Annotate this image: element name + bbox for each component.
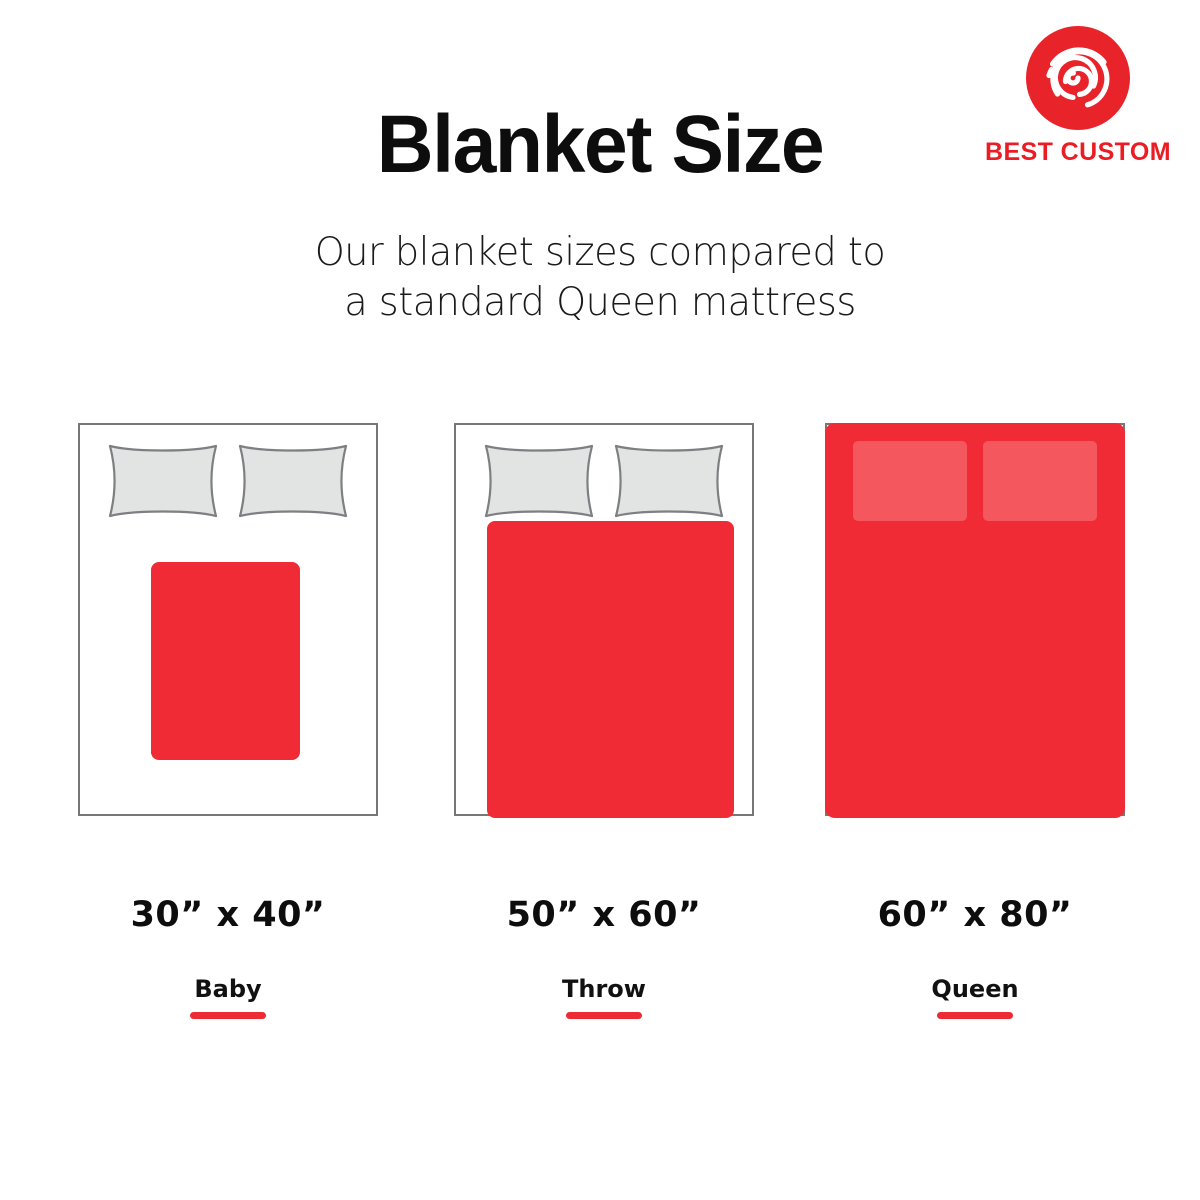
- pillow-icon: [236, 441, 350, 521]
- size-dimensions: 30” x 40”: [78, 898, 378, 933]
- underline-rule: [937, 1012, 1013, 1019]
- subtitle-line-1: Our blanket sizes compared to: [12, 228, 1188, 278]
- pillow-icon: [482, 441, 596, 521]
- size-name: Queen: [825, 977, 1125, 1001]
- size-dimensions: 60” x 80”: [825, 898, 1125, 933]
- size-label-queen: 60” x 80” Queen: [825, 898, 1125, 1019]
- size-label-throw: 50” x 60” Throw: [454, 898, 754, 1019]
- page-title: Blanket Size: [24, 104, 1176, 186]
- blanket-shape-throw: [487, 521, 734, 818]
- pillow-icon: [853, 441, 967, 521]
- pillow-icon: [983, 441, 1097, 521]
- blanket-shape-baby: [151, 562, 300, 760]
- blanket-shape-queen: [825, 423, 1125, 818]
- size-name: Throw: [454, 977, 754, 1001]
- pillow-icon: [612, 441, 726, 521]
- bed-diagram-throw: [454, 423, 754, 816]
- bed-diagram-group: [0, 423, 1200, 816]
- bed-diagram-baby: [78, 423, 378, 816]
- underline-rule: [566, 1012, 642, 1019]
- subtitle-line-2: a standard Queen mattress: [12, 278, 1188, 328]
- pillow-icon: [106, 441, 220, 521]
- size-dimensions: 50” x 60”: [454, 898, 754, 933]
- underline-rule: [190, 1012, 266, 1019]
- size-label-baby: 30” x 40” Baby: [78, 898, 378, 1019]
- size-label-group: 30” x 40” Baby 50” x 60” Throw 60” x 80”…: [0, 898, 1200, 1038]
- bed-diagram-queen: [825, 423, 1125, 816]
- page-subtitle: Our blanket sizes compared to a standard…: [0, 228, 1200, 328]
- size-name: Baby: [78, 977, 378, 1001]
